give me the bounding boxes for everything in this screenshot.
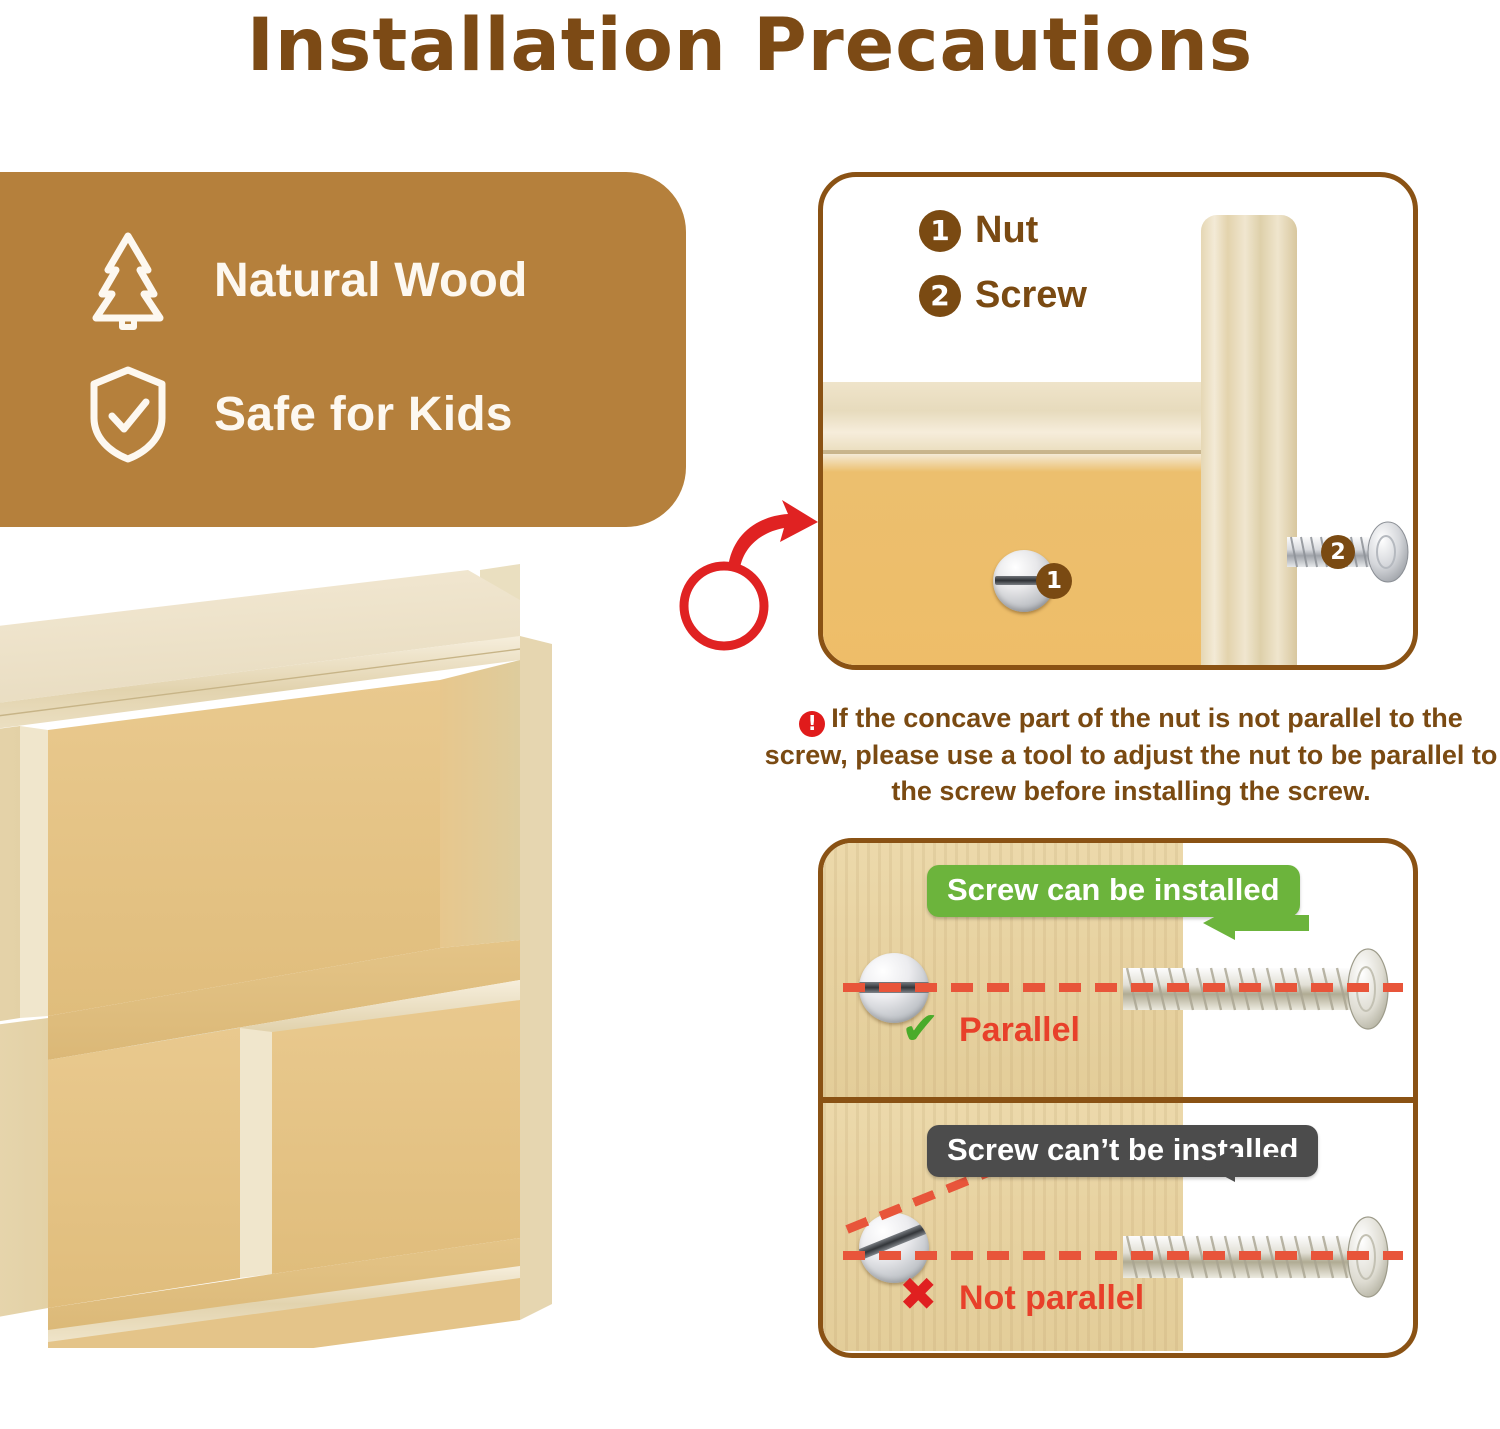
callout-badge-2: 2	[1321, 535, 1355, 569]
legend-badge-1: 1	[919, 210, 961, 252]
legend-item-nut: 1 Nut	[919, 209, 1087, 252]
hardware-detail-panel: 1 2 1	[818, 172, 1418, 670]
direction-arrow	[1201, 1147, 1311, 1188]
legend-label: Nut	[975, 209, 1038, 252]
alignment-label: Parallel	[959, 1011, 1080, 1050]
page-title: Installation Precautions	[0, 2, 1500, 90]
alignment-dashed-line	[843, 983, 1403, 992]
red-highlight-circle	[684, 566, 764, 646]
warning-text: If the concave part of the nut is not pa…	[765, 703, 1498, 806]
feature-label: Natural Wood	[214, 253, 528, 308]
comparison-row-not-installable: Screw can’t be installed	[823, 1097, 1413, 1351]
pine-tree-icon	[80, 230, 176, 330]
callout-badge-1: 1	[1036, 563, 1072, 599]
legend-badge-2: 2	[919, 275, 961, 317]
parallel-comparison-panel: Screw can be installed	[818, 838, 1418, 1358]
feature-label: Safe for Kids	[214, 387, 513, 442]
feature-item-safe-for-kids: Safe for Kids	[80, 364, 513, 464]
plywood-edge-band	[818, 382, 1217, 454]
legend-item-screw: 2 Screw	[919, 274, 1087, 317]
check-icon: ✔	[901, 1005, 940, 1051]
direction-arrow	[1201, 905, 1311, 946]
machine-screw	[1123, 1211, 1413, 1316]
machine-screw	[1123, 943, 1413, 1048]
horizontal-wood-panel	[818, 382, 1217, 670]
shield-check-icon	[80, 364, 176, 464]
comparison-row-installable: Screw can be installed	[823, 843, 1413, 1097]
product-photo	[0, 548, 760, 1348]
alignment-label: Not parallel	[959, 1279, 1144, 1318]
exclamation-icon: !	[799, 711, 825, 737]
alignment-dashed-line	[843, 1251, 1403, 1260]
features-panel: Natural Wood Safe for Kids	[0, 172, 686, 527]
legend: 1 Nut 2 Screw	[919, 209, 1087, 339]
vertical-wood-leg	[1201, 215, 1297, 670]
detail-callout-annotation	[676, 488, 826, 658]
feature-item-natural-wood: Natural Wood	[80, 230, 528, 330]
cross-icon: ✖	[899, 1271, 938, 1317]
curved-red-arrow	[728, 500, 818, 568]
warning-note: !If the concave part of the nut is not p…	[762, 700, 1500, 809]
legend-label: Screw	[975, 274, 1087, 317]
